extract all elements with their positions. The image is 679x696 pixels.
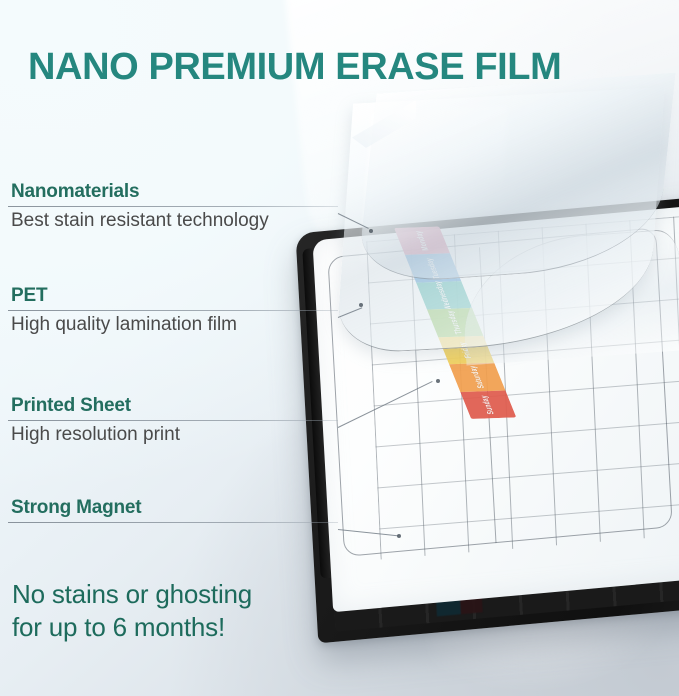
feature-pet: PET High quality lamination film <box>8 286 338 338</box>
claim-line-2: for up to 6 months! <box>12 611 252 644</box>
feature-heading: Strong Magnet <box>8 498 338 519</box>
feature-heading: Printed Sheet <box>8 396 338 417</box>
leader-dot-pet <box>359 303 363 307</box>
page-title: NANO PREMIUM ERASE FILM <box>28 46 561 89</box>
feature-subtitle <box>8 523 338 525</box>
feature-heading: PET <box>8 286 338 307</box>
product-infographic: Monday Tuesday Wednesday Thursday Friday… <box>0 0 679 696</box>
feature-nanomaterials: Nanomaterials Best stain resistant techn… <box>8 182 338 234</box>
leader-dot-printed-sheet <box>436 379 440 383</box>
claim-text: No stains or ghosting for up to 6 months… <box>12 578 252 645</box>
feature-heading: Nanomaterials <box>8 182 338 203</box>
leader-dot-nanomaterials <box>369 229 373 233</box>
feature-subtitle: High quality lamination film <box>8 311 338 338</box>
planner-day-label: Sunday <box>480 395 497 414</box>
feature-strong-magnet: Strong Magnet <box>8 498 338 525</box>
planner-day-label: Saturday <box>468 366 486 389</box>
leader-dot-strong-magnet <box>397 534 401 538</box>
feature-subtitle: Best stain resistant technology <box>8 207 338 234</box>
feature-printed-sheet: Printed Sheet High resolution print <box>8 396 338 448</box>
claim-line-1: No stains or ghosting <box>12 578 252 611</box>
feature-subtitle: High resolution print <box>8 421 338 448</box>
